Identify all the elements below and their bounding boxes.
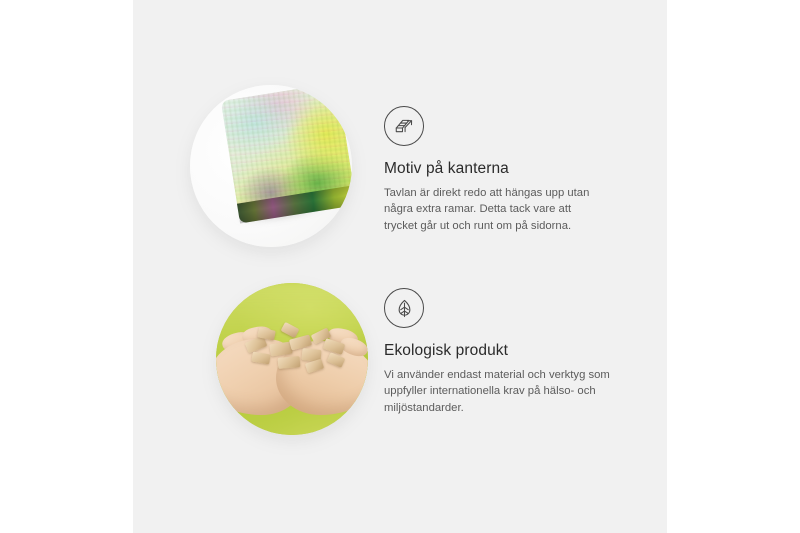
wood-chip (327, 352, 346, 368)
feature-text-block-2: Ekologisk produkt Vi använder endast mat… (384, 288, 659, 416)
leaf-icon (384, 288, 424, 328)
feature-title: Motiv på kanterna (384, 159, 659, 179)
promo-banner: Motiv på kanterna Tavlan är direkt redo … (0, 0, 800, 533)
feature-description: Tavlan är direkt redo att hängas upp uta… (384, 185, 659, 234)
canvas-print-object (221, 85, 352, 227)
feature-text-block-1: Motiv på kanterna Tavlan är direkt redo … (384, 106, 659, 234)
wood-chip (323, 338, 345, 355)
feature-description: Vi använder endast material och verktyg … (384, 367, 659, 416)
wood-chips-pile (244, 321, 348, 375)
canvas-print-corner-photo (190, 85, 352, 247)
wood-chip (281, 322, 300, 338)
wood-chip (278, 356, 301, 369)
feature-row-eco-product: Ekologisk produkt Vi använder endast mat… (133, 262, 667, 452)
canvas-wrap-edge-icon (384, 106, 424, 146)
wood-chip (251, 352, 270, 365)
eco-wood-chips-photo (216, 283, 368, 435)
feature-row-canvas-edges: Motiv på kanterna Tavlan är direkt redo … (133, 60, 667, 260)
feature-title: Ekologisk produkt (384, 341, 659, 361)
wood-chip (305, 359, 324, 374)
